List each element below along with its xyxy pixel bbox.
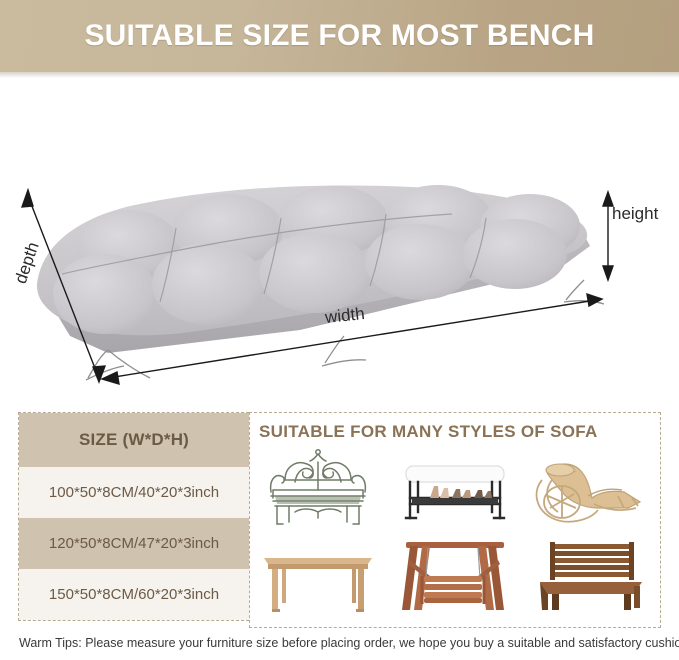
shoes-under-bench: [430, 486, 492, 498]
sofa-item-wooden-dining-table: [250, 532, 387, 620]
sofa-styles-panel: SUITABLE FOR MANY STYLES OF SOFA: [249, 412, 661, 628]
cushion-diagram: depth width height: [0, 78, 679, 398]
height-label: height: [612, 204, 658, 224]
wooden-dining-table-icon: [256, 536, 380, 616]
wooden-porch-swing-icon: [392, 534, 518, 618]
size-option-3: 150*50*8CM/60*20*3inch: [49, 586, 219, 603]
sofa-item-wooden-slat-bench: [523, 532, 660, 620]
size-option-1: 100*50*8CM/40*20*3inch: [49, 484, 219, 501]
size-table: SIZE (W*D*H) 100*50*8CM/40*20*3inch 120*…: [18, 412, 249, 621]
sofa-item-upholstered-shoe-bench: [387, 444, 524, 532]
sofa-item-wooden-porch-swing: [387, 532, 524, 620]
header-banner: SUITABLE SIZE FOR MOST BENCH: [0, 0, 679, 72]
upholstered-shoe-bench-icon: [394, 448, 516, 528]
table-row: 150*50*8CM/60*20*3inch: [19, 569, 249, 620]
lower-section: SIZE (W*D*H) 100*50*8CM/40*20*3inch 120*…: [0, 398, 679, 660]
table-row: 100*50*8CM/40*20*3inch: [19, 467, 249, 518]
rattan-rocking-lounge-chair-icon: [528, 446, 656, 530]
size-table-header-cell: SIZE (W*D*H): [79, 430, 189, 450]
cushion-illustration: [0, 78, 679, 398]
width-label: width: [324, 304, 366, 328]
page-title: SUITABLE SIZE FOR MOST BENCH: [84, 19, 594, 53]
table-row: 120*50*8CM/47*20*3inch: [19, 518, 249, 569]
size-option-2: 120*50*8CM/47*20*3inch: [49, 535, 219, 552]
sofa-item-wrought-iron-garden-bench: [250, 444, 387, 532]
sofa-styles-grid: [250, 444, 660, 620]
wrought-iron-garden-bench-icon: [255, 446, 381, 530]
warm-tips-text: Warm Tips: Please measure your furniture…: [19, 636, 679, 650]
sofa-item-rattan-rocking-lounge-chair: [523, 444, 660, 532]
sofa-panel-title: SUITABLE FOR MANY STYLES OF SOFA: [259, 422, 660, 442]
wooden-slat-bench-icon: [530, 536, 654, 616]
size-table-header-row: SIZE (W*D*H): [19, 413, 249, 467]
bench-backrest: [550, 542, 634, 580]
